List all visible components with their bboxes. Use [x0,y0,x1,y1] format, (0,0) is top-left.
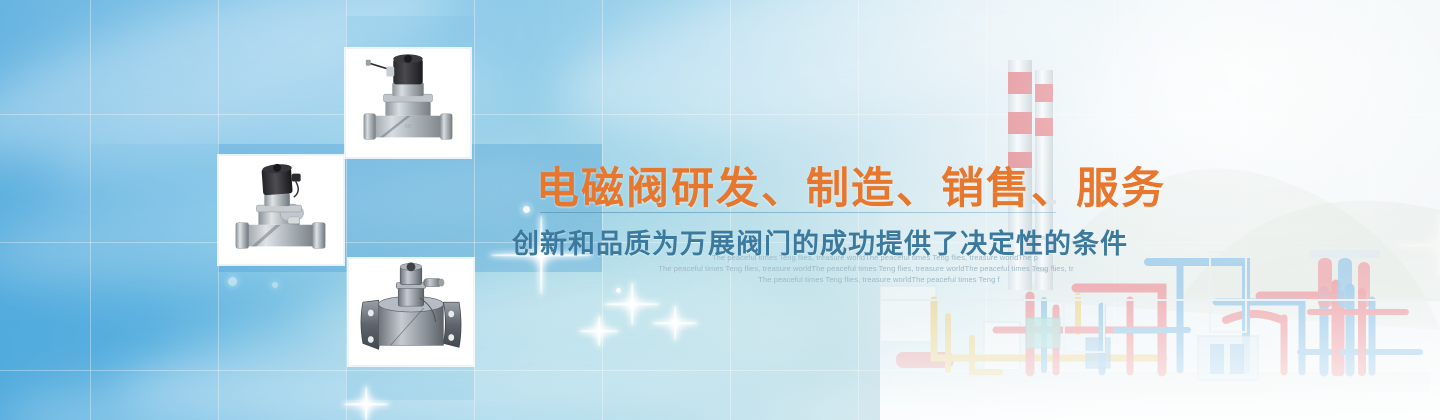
sparkle-star-icon [486,200,596,310]
bokeh-dot [523,206,530,213]
banner-headline: 电磁阀研发、制造、销售、服务 [536,154,1166,216]
pipe-rack-red-right [1310,284,1406,372]
heat-exchanger [1026,318,1258,380]
product-thumb-solenoid-valve-threaded-middle[interactable] [218,155,344,265]
pipe-rack-blue [1044,262,1420,372]
bokeh-dot [228,277,237,286]
cloud-wisp [552,0,1088,164]
smokestack [1008,60,1032,290]
product-thumb-solenoid-valve-flanged-bottom[interactable] [348,258,474,366]
blurb-line-1: The peaceful times Teng flies, treasure … [646,252,1086,263]
vertical-vessels [1310,250,1380,308]
distillation-column [1032,70,1056,290]
pipe-rack-yellow [934,296,1164,372]
bokeh-dot [616,288,621,293]
blue-tile [474,144,602,272]
grid-overlay [0,0,1440,420]
pipe-rack-red [996,288,1340,372]
skid-unit [880,286,1020,370]
svg-text:CE: CE [405,124,413,130]
bokeh-dot [272,282,278,288]
blurb-line-3: The peaceful times Teng flies, treasure … [646,274,1086,285]
hero-banner: CE [0,0,1440,420]
gantry-frame [880,252,1440,352]
sparkle-star-icon [576,308,622,354]
sparkle-star-icon [340,378,392,420]
sparkle-star-icon [1394,200,1440,290]
industrial-plant-scene [880,0,1440,420]
sparkle-star-icon [600,272,664,336]
haze-lower [880,180,1440,420]
banner-blurb: The peaceful times Teng flies, treasure … [646,252,1086,285]
cloud-wisp [0,360,900,420]
haze-upper [940,0,1440,300]
sparkle-star-icon [648,296,702,350]
banner-subheadline: 创新和品质为万展阀门的成功提供了决定性的条件 [512,222,1128,261]
cloud-layer [0,0,1440,420]
blue-tile [90,144,218,272]
headline-divider [540,212,1056,213]
blurb-line-2: The peaceful times Teng flies, treasure … [646,263,1086,274]
product-thumb-solenoid-valve-threaded-top[interactable]: CE [345,48,471,158]
copy-block: 电磁阀研发、制造、销售、服务 创新和品质为万展阀门的成功提供了决定性的条件 Th… [0,0,1440,420]
